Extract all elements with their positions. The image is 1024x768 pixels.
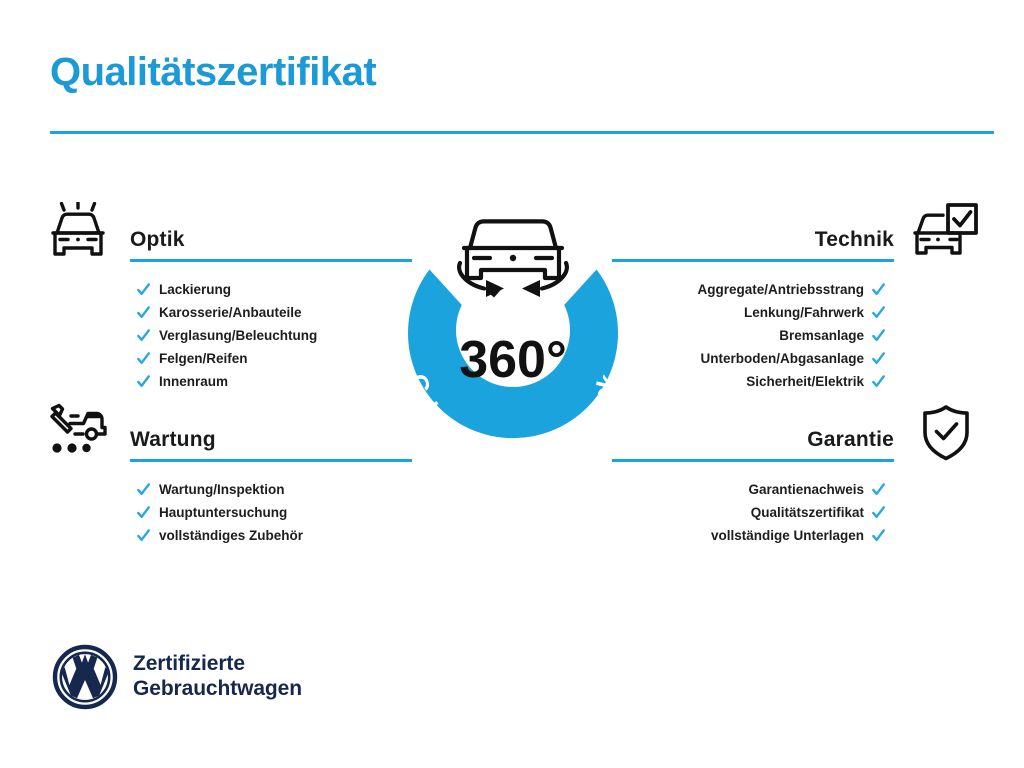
section-wartung: Wartung Wartung/Inspektion Hauptuntersuc… bbox=[42, 400, 412, 550]
check-icon bbox=[136, 328, 151, 343]
list-item-label: Verglasung/Beleuchtung bbox=[159, 329, 317, 343]
check-icon bbox=[136, 305, 151, 320]
list-item: Unterboden/Abgasanlage bbox=[612, 347, 886, 370]
list-item-label: Aggregate/Antriebsstrang bbox=[697, 283, 864, 297]
section-wartung-header: Wartung bbox=[42, 400, 412, 472]
check-icon bbox=[871, 305, 886, 320]
section-wartung-title: Wartung bbox=[130, 428, 216, 452]
car-front-checkbox-icon bbox=[910, 202, 982, 264]
wartung-check-list: Wartung/Inspektion Hauptuntersuchung vol… bbox=[42, 478, 412, 547]
check-icon bbox=[871, 282, 886, 297]
page-title: Qualitätszertifikat bbox=[50, 50, 376, 94]
check-icon bbox=[871, 328, 886, 343]
badge-center-label: 360° bbox=[459, 331, 567, 389]
section-optik-divider bbox=[130, 259, 412, 262]
shield-check-icon bbox=[910, 402, 982, 464]
list-item: Wartung/Inspektion bbox=[136, 478, 412, 501]
left-column: Optik Lackierung Karosserie/Anbauteile bbox=[42, 200, 412, 550]
list-item-label: Lenkung/Fahrwerk bbox=[744, 306, 864, 320]
technik-check-list: Aggregate/Antriebsstrang Lenkung/Fahrwer… bbox=[612, 278, 982, 393]
check-icon bbox=[136, 505, 151, 520]
section-technik-header: Technik bbox=[612, 200, 982, 272]
section-garantie: Garantie Garantienachweis Qualitätszerti… bbox=[612, 400, 982, 550]
list-item: Aggregate/Antriebsstrang bbox=[612, 278, 886, 301]
check-icon bbox=[871, 374, 886, 389]
list-item-label: Unterboden/Abgasanlage bbox=[700, 352, 864, 366]
list-item: Lackierung bbox=[136, 278, 412, 301]
check-icon bbox=[136, 374, 151, 389]
vw-wordmark: Zertifizierte Gebrauchtwagen bbox=[133, 652, 302, 702]
check-icon bbox=[871, 351, 886, 366]
list-item: Verglasung/Beleuchtung bbox=[136, 324, 412, 347]
certificate-page: Qualitätszertifikat bbox=[0, 0, 1024, 768]
section-technik-title: Technik bbox=[815, 228, 894, 252]
garantie-check-list: Garantienachweis Qualitätszertifikat vol… bbox=[612, 478, 982, 547]
check-icon bbox=[136, 482, 151, 497]
list-item-label: Felgen/Reifen bbox=[159, 352, 248, 366]
list-item: Sicherheit/Elektrik bbox=[612, 370, 886, 393]
list-item: Karosserie/Anbauteile bbox=[136, 301, 412, 324]
list-item-label: Lackierung bbox=[159, 283, 231, 297]
check-icon bbox=[871, 528, 886, 543]
section-optik-title: Optik bbox=[130, 228, 185, 252]
car-front-shine-icon bbox=[42, 202, 114, 264]
check-icon bbox=[136, 528, 151, 543]
section-wartung-divider bbox=[130, 459, 412, 462]
list-item: Innenraum bbox=[136, 370, 412, 393]
list-item: Hauptuntersuchung bbox=[136, 501, 412, 524]
right-column: Technik Aggregate/Antriebsstrang Lenkung… bbox=[612, 200, 982, 550]
section-technik-divider bbox=[612, 259, 894, 262]
vw-wordmark-line1: Zertifizierte bbox=[133, 652, 302, 677]
list-item: vollständiges Zubehör bbox=[136, 524, 412, 547]
list-item: vollständige Unterlagen bbox=[612, 524, 886, 547]
list-item-label: Bremsanlage bbox=[779, 329, 864, 343]
list-item-label: Innenraum bbox=[159, 375, 228, 389]
section-technik: Technik Aggregate/Antriebsstrang Lenkung… bbox=[612, 200, 982, 400]
list-item-label: vollständige Unterlagen bbox=[711, 529, 864, 543]
check-icon bbox=[871, 505, 886, 520]
list-item: Lenkung/Fahrwerk bbox=[612, 301, 886, 324]
list-item: Qualitätszertifikat bbox=[612, 501, 886, 524]
list-item: Bremsanlage bbox=[612, 324, 886, 347]
list-item-label: Hauptuntersuchung bbox=[159, 506, 287, 520]
list-item-label: Karosserie/Anbauteile bbox=[159, 306, 302, 320]
badge-360-gebrauchtwagen-check: Gebrauchtwagen-Check 360° bbox=[374, 196, 652, 486]
list-item-label: Sicherheit/Elektrik bbox=[746, 375, 864, 389]
check-icon bbox=[871, 482, 886, 497]
car-rotate-icon bbox=[459, 221, 567, 297]
check-icon bbox=[136, 351, 151, 366]
vw-certified-lockup: Zertifizierte Gebrauchtwagen bbox=[52, 644, 302, 710]
section-optik: Optik Lackierung Karosserie/Anbauteile bbox=[42, 200, 412, 400]
section-garantie-header: Garantie bbox=[612, 400, 982, 472]
section-optik-header: Optik bbox=[42, 200, 412, 272]
check-icon bbox=[136, 282, 151, 297]
list-item: Garantienachweis bbox=[612, 478, 886, 501]
list-item-label: Garantienachweis bbox=[748, 483, 864, 497]
optik-check-list: Lackierung Karosserie/Anbauteile Verglas… bbox=[42, 278, 412, 393]
list-item: Felgen/Reifen bbox=[136, 347, 412, 370]
vw-logo-icon bbox=[52, 644, 118, 710]
vw-wordmark-line2: Gebrauchtwagen bbox=[133, 677, 302, 702]
title-divider bbox=[50, 131, 994, 134]
list-item-label: Qualitätszertifikat bbox=[751, 506, 864, 520]
list-item-label: Wartung/Inspektion bbox=[159, 483, 285, 497]
list-item-label: vollständiges Zubehör bbox=[159, 529, 303, 543]
section-garantie-divider bbox=[612, 459, 894, 462]
wrench-car-icon bbox=[42, 402, 114, 464]
section-garantie-title: Garantie bbox=[807, 428, 894, 452]
